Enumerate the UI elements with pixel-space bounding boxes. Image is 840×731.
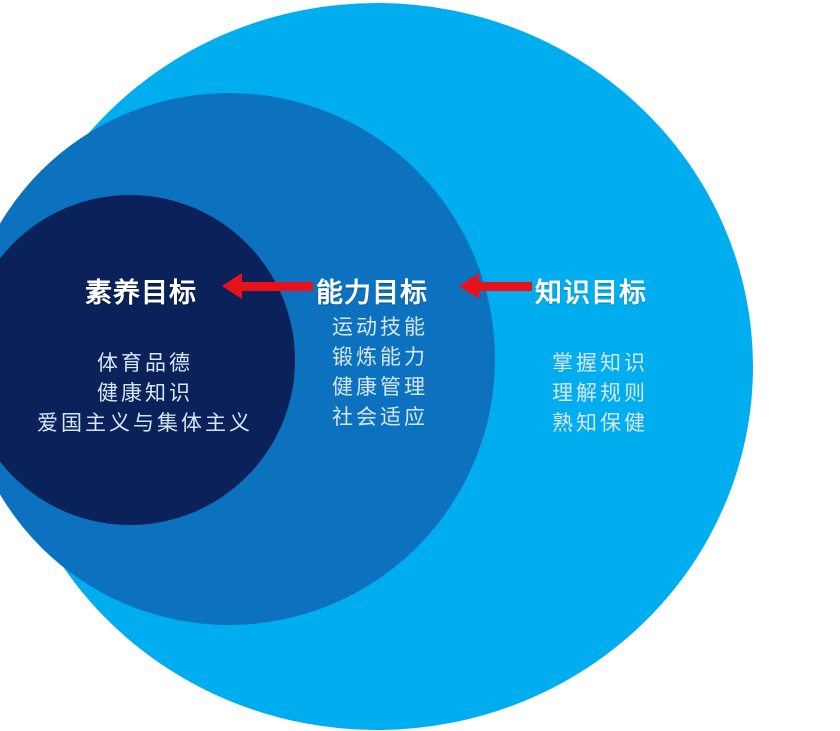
list-item: 体育品德 — [20, 348, 270, 378]
arrow-ability-to-literacy-icon — [241, 282, 313, 291]
list-item: 理解规则 — [525, 378, 675, 408]
list-item: 运动技能 — [310, 312, 450, 342]
list-item: 健康管理 — [310, 372, 450, 402]
list-item: 熟知保健 — [525, 408, 675, 438]
arrow-knowledge-to-ability-icon — [478, 282, 532, 291]
list-item: 爱国主义与集体主义 — [20, 408, 270, 438]
list-item: 锻炼能力 — [310, 342, 450, 372]
list-item: 掌握知识 — [525, 348, 675, 378]
list-item: 社会适应 — [310, 402, 450, 432]
ability-goal-item-list: 运动技能 锻炼能力 健康管理 社会适应 — [310, 312, 450, 432]
literacy-goal-item-list: 体育品德 健康知识 爱国主义与集体主义 — [20, 348, 270, 438]
literacy-goal-heading: 素养目标 — [85, 271, 197, 310]
knowledge-goal-heading: 知识目标 — [535, 271, 647, 310]
knowledge-goal-item-list: 掌握知识 理解规则 熟知保健 — [525, 348, 675, 438]
list-item: 健康知识 — [20, 378, 270, 408]
diagram-canvas: 素养目标 能力目标 知识目标 体育品德 健康知识 爱国主义与集体主义 运动技能 … — [0, 0, 840, 731]
ability-goal-heading: 能力目标 — [316, 271, 428, 310]
